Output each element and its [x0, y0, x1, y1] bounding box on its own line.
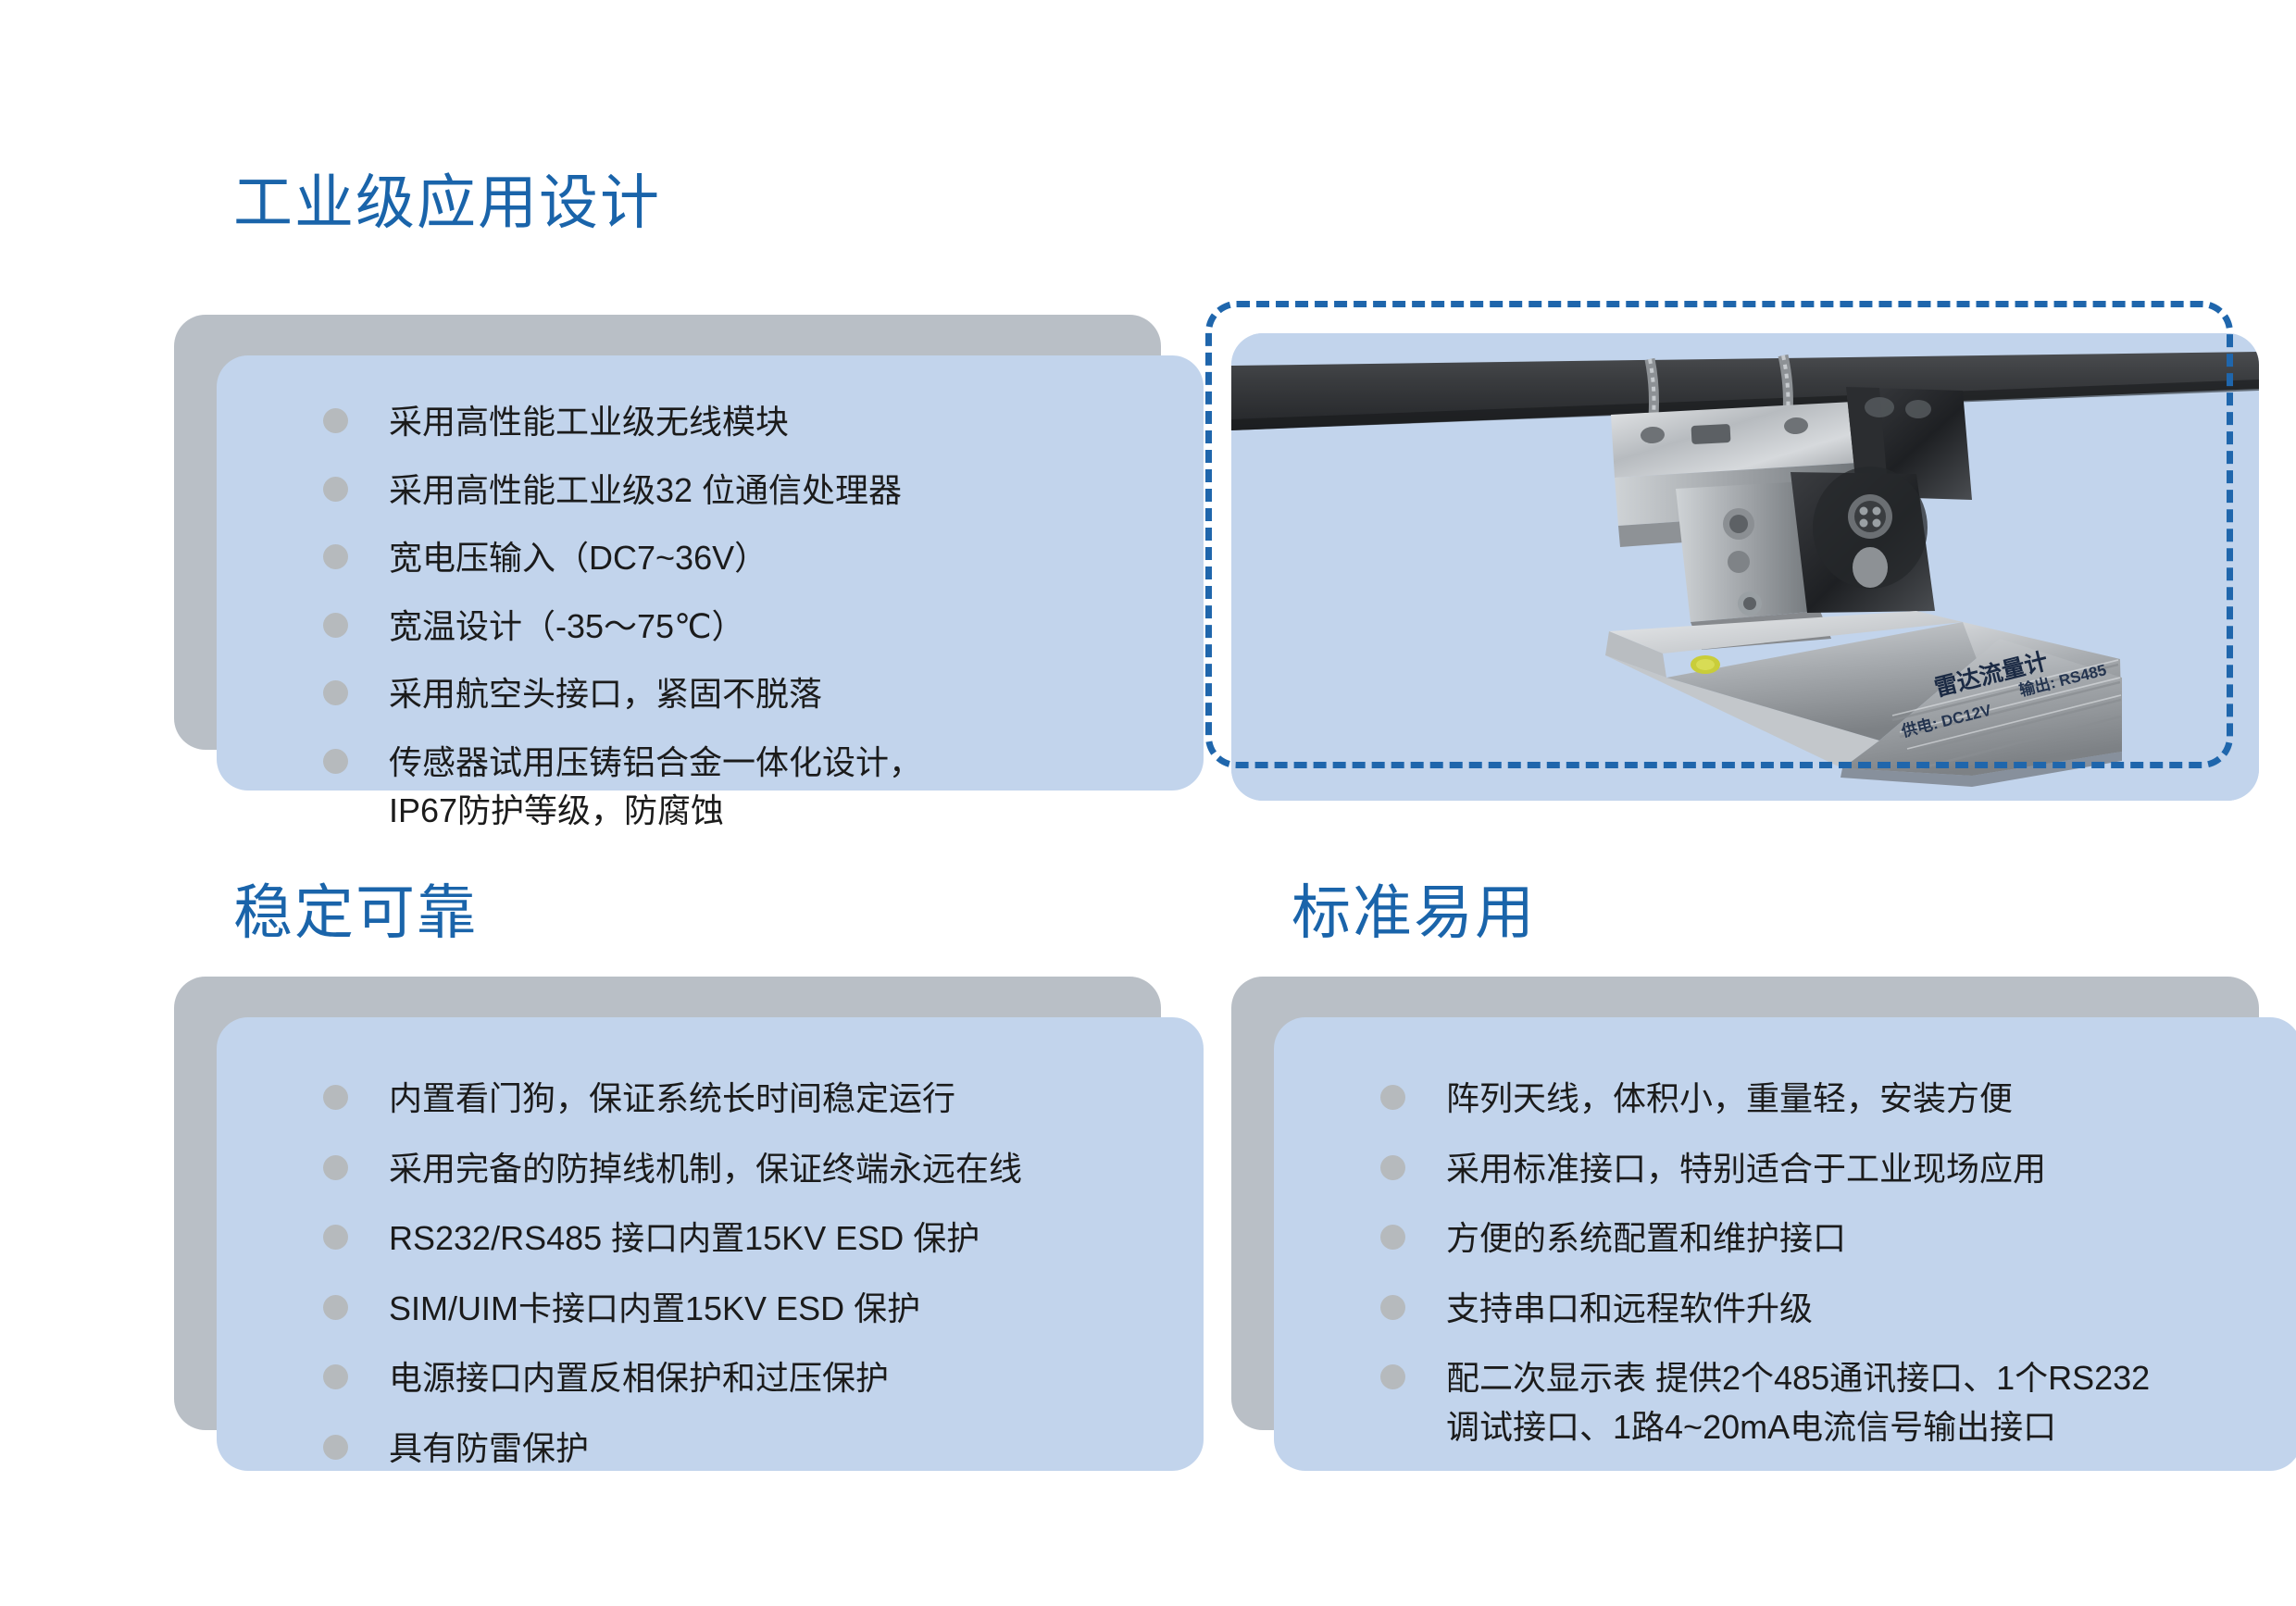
list-item-label: 采用完备的防掉线机制，保证终端永远在线 — [389, 1145, 1022, 1194]
list-item: RS232/RS485 接口内置15KV ESD 保护 — [323, 1214, 1167, 1264]
list-item: 宽温设计（-35～75℃） — [323, 603, 1167, 652]
list-item: 内置看门狗，保证系统长时间稳定运行 — [323, 1075, 1167, 1124]
section-title-stable: 稳定可靠 — [233, 881, 478, 946]
list-item-label: 阵列天线，体积小，重量轻，安装方便 — [1446, 1075, 2013, 1124]
bullet-list-stable: 内置看门狗，保证系统长时间稳定运行 采用完备的防掉线机制，保证终端永远在线 RS… — [323, 1075, 1167, 1494]
bullet-dot-icon — [323, 1225, 348, 1250]
section-title-industrial: 工业级应用设计 — [233, 171, 661, 236]
list-item-label: 采用高性能工业级32 位通信处理器 — [389, 467, 902, 516]
bullet-dot-icon — [323, 749, 348, 774]
list-item: 采用高性能工业级无线模块 — [323, 398, 1167, 447]
card-front-layer: 内置看门狗，保证系统长时间稳定运行 采用完备的防掉线机制，保证终端永远在线 RS… — [217, 1017, 1204, 1471]
list-item-label: 传感器试用压铸铝合金一体化设计， IP67防护等级，防腐蚀 — [389, 739, 922, 836]
bullet-dot-icon — [323, 1435, 348, 1460]
feature-card-standard: 阵列天线，体积小，重量轻，安装方便 采用标准接口，特别适合于工业现场应用 方便的… — [1231, 977, 2259, 1430]
bullet-dot-icon — [323, 544, 348, 569]
card-front-layer: 阵列天线，体积小，重量轻，安装方便 采用标准接口，特别适合于工业现场应用 方便的… — [1274, 1017, 2296, 1471]
bullet-dot-icon — [1380, 1364, 1405, 1389]
list-item-label: 宽温设计（-35～75℃） — [389, 603, 745, 652]
list-item-label: 支持串口和远程软件升级 — [1446, 1285, 1813, 1334]
bullet-dot-icon — [323, 1155, 348, 1180]
list-item: 宽电压输入（DC7~36V） — [323, 534, 1167, 583]
list-item: 采用高性能工业级32 位通信处理器 — [323, 467, 1167, 516]
list-item: 具有防雷保护 — [323, 1425, 1167, 1474]
list-item: SIM/UIM卡接口内置15KV ESD 保护 — [323, 1285, 1167, 1334]
bullet-list-industrial: 采用高性能工业级无线模块 采用高性能工业级32 位通信处理器 宽电压输入（DC7… — [323, 398, 1167, 855]
list-item-label: SIM/UIM卡接口内置15KV ESD 保护 — [389, 1285, 920, 1334]
list-item: 方便的系统配置和维护接口 — [1380, 1214, 2265, 1264]
bullet-dot-icon — [323, 1364, 348, 1389]
list-item-label: 采用航空头接口，紧固不脱落 — [389, 670, 822, 719]
list-item-label: 采用高性能工业级无线模块 — [389, 398, 789, 447]
list-item-label: 内置看门狗，保证系统长时间稳定运行 — [389, 1075, 955, 1124]
list-item-label: 配二次显示表 提供2个485通讯接口、1个RS232 调试接口、1路4~20mA… — [1446, 1354, 2150, 1451]
bullet-dot-icon — [323, 477, 348, 502]
bullet-dot-icon — [1380, 1225, 1405, 1250]
bullet-dot-icon — [1380, 1155, 1405, 1180]
list-item: 支持串口和远程软件升级 — [1380, 1285, 2265, 1334]
card-front-layer: 采用高性能工业级无线模块 采用高性能工业级32 位通信处理器 宽电压输入（DC7… — [217, 355, 1204, 791]
feature-card-stable: 内置看门狗，保证系统长时间稳定运行 采用完备的防掉线机制，保证终端永远在线 RS… — [174, 977, 1161, 1430]
bullet-dot-icon — [323, 1295, 348, 1320]
list-item-label: 方便的系统配置和维护接口 — [1446, 1214, 1846, 1264]
list-item-label: 电源接口内置反相保护和过压保护 — [389, 1354, 889, 1403]
list-item-label: 具有防雷保护 — [389, 1425, 589, 1474]
bullet-dot-icon — [323, 613, 348, 638]
brochure-page: 工业级应用设计 采用高性能工业级无线模块 采用高性能工业级32 位通信处理器 宽… — [0, 0, 2296, 1606]
feature-card-industrial: 采用高性能工业级无线模块 采用高性能工业级32 位通信处理器 宽电压输入（DC7… — [174, 315, 1161, 750]
product-photo: 雷达流量计 供电: DC12V 输出: RS485 — [1231, 333, 2259, 801]
list-item: 采用航空头接口，紧固不脱落 — [323, 670, 1167, 719]
list-item: 采用标准接口，特别适合于工业现场应用 — [1380, 1145, 2265, 1194]
list-item: 阵列天线，体积小，重量轻，安装方便 — [1380, 1075, 2265, 1124]
bullet-dot-icon — [1380, 1085, 1405, 1110]
list-item-label: 宽电压输入（DC7~36V） — [389, 534, 767, 583]
bullet-dot-icon — [323, 408, 348, 433]
list-item: 电源接口内置反相保护和过压保护 — [323, 1354, 1167, 1403]
bullet-list-standard: 阵列天线，体积小，重量轻，安装方便 采用标准接口，特别适合于工业现场应用 方便的… — [1380, 1075, 2265, 1473]
list-item: 配二次显示表 提供2个485通讯接口、1个RS232 调试接口、1路4~20mA… — [1380, 1354, 2265, 1451]
bullet-dot-icon — [323, 1085, 348, 1110]
list-item-label: RS232/RS485 接口内置15KV ESD 保护 — [389, 1214, 980, 1264]
bullet-dot-icon — [1380, 1295, 1405, 1320]
product-image-panel: 雷达流量计 供电: DC12V 输出: RS485 — [1231, 333, 2259, 801]
section-title-standard: 标准易用 — [1291, 881, 1536, 946]
list-item: 传感器试用压铸铝合金一体化设计， IP67防护等级，防腐蚀 — [323, 739, 1167, 836]
list-item-label: 采用标准接口，特别适合于工业现场应用 — [1446, 1145, 2046, 1194]
bullet-dot-icon — [323, 680, 348, 705]
list-item: 采用完备的防掉线机制，保证终端永远在线 — [323, 1145, 1167, 1194]
